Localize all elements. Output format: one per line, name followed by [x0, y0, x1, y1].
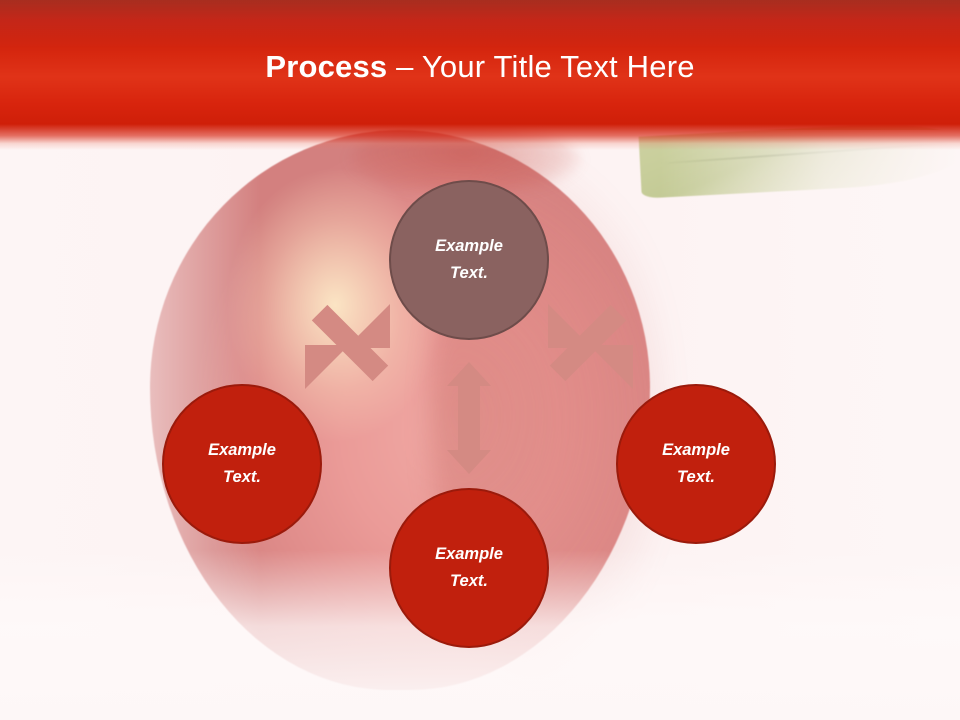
connector-top-bottom-arrow — [447, 362, 491, 474]
process-node-left[interactable]: Example Text. — [162, 384, 322, 544]
process-diagram: Example Text. Example Text. Example Text… — [0, 0, 960, 720]
process-node-bottom-line1: Example — [435, 541, 503, 568]
process-node-top-line2: Text. — [435, 260, 503, 287]
process-node-left-line2: Text. — [208, 464, 276, 491]
process-node-left-line1: Example — [208, 437, 276, 464]
process-node-bottom-line2: Text. — [435, 568, 503, 595]
process-node-right-line1: Example — [662, 437, 730, 464]
process-node-top-line1: Example — [435, 233, 503, 260]
process-node-bottom[interactable]: Example Text. — [389, 488, 549, 648]
connector-top-right-arrow — [548, 304, 633, 389]
connector-top-left-arrow — [296, 304, 390, 395]
process-node-right-line2: Text. — [662, 464, 730, 491]
process-node-top[interactable]: Example Text. — [389, 180, 549, 340]
process-node-right[interactable]: Example Text. — [616, 384, 776, 544]
slide: Process – Your Title Text Here — [0, 0, 960, 720]
